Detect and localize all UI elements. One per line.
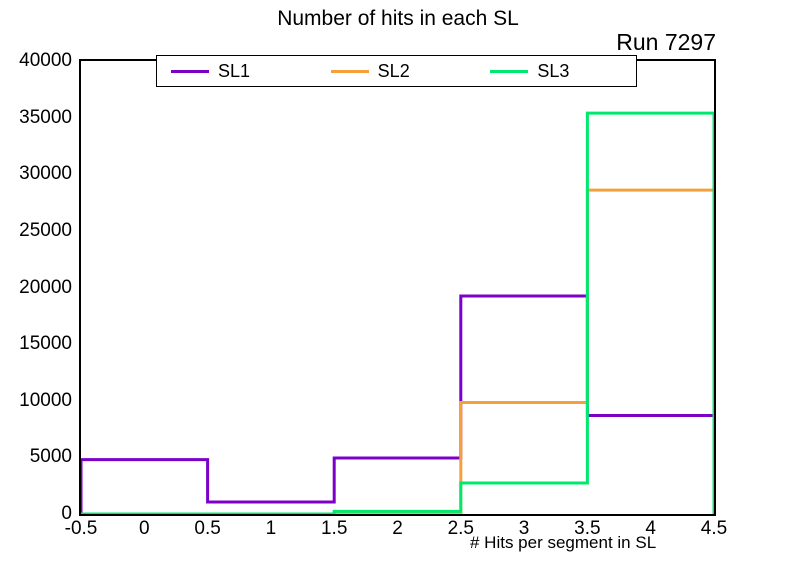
y-tick-label: 40000 <box>19 51 72 70</box>
y-tick-label: 20000 <box>19 278 72 297</box>
x-axis-label: # Hits per segment in SL <box>470 533 656 553</box>
run-annotation: Run 7297 <box>616 29 716 55</box>
y-tick-label: 25000 <box>19 221 72 240</box>
x-tick-label: 4.5 <box>701 519 727 538</box>
x-tick-label: 2.5 <box>448 519 474 538</box>
legend-entry-sl1[interactable]: SL1 <box>157 62 317 80</box>
y-tick-label: 10000 <box>19 391 72 410</box>
legend-swatch-sl2 <box>331 70 369 73</box>
x-tick-label: -0.5 <box>65 519 98 538</box>
legend-label-sl3: SL3 <box>537 62 569 80</box>
plot-area <box>81 61 714 514</box>
y-tick-label: 35000 <box>19 108 72 127</box>
legend-swatch-sl3 <box>490 70 528 73</box>
y-tick-label: 5000 <box>30 447 72 466</box>
x-tick-label: 2 <box>392 519 403 538</box>
x-tick-label: 4 <box>645 519 656 538</box>
x-tick-label: 0.5 <box>194 519 220 538</box>
histogram-svg <box>81 61 714 514</box>
y-tick-label: 30000 <box>19 164 72 183</box>
legend-entry-sl2[interactable]: SL2 <box>317 62 477 80</box>
x-tick-label: 0 <box>139 519 150 538</box>
x-tick-label: 3 <box>519 519 530 538</box>
histogram-line-sl3 <box>81 113 714 514</box>
y-axis-label: # Segments <box>0 0 18 96</box>
x-tick-label: 1 <box>266 519 277 538</box>
y-tick-label: 15000 <box>19 334 72 353</box>
legend-swatch-sl1 <box>171 70 209 73</box>
legend-entry-sl3[interactable]: SL3 <box>476 62 636 80</box>
plot-frame <box>79 59 716 516</box>
x-tick-label: 3.5 <box>574 519 600 538</box>
histogram-line-sl2 <box>81 190 714 514</box>
legend[interactable]: SL1 SL2 SL3 <box>156 55 637 87</box>
histogram-line-sl1 <box>81 296 714 514</box>
legend-label-sl1: SL1 <box>218 62 250 80</box>
chart-canvas: Number of hits in each SL Run 7297 # Seg… <box>0 0 796 572</box>
legend-label-sl2: SL2 <box>378 62 410 80</box>
x-tick-label: 1.5 <box>321 519 347 538</box>
